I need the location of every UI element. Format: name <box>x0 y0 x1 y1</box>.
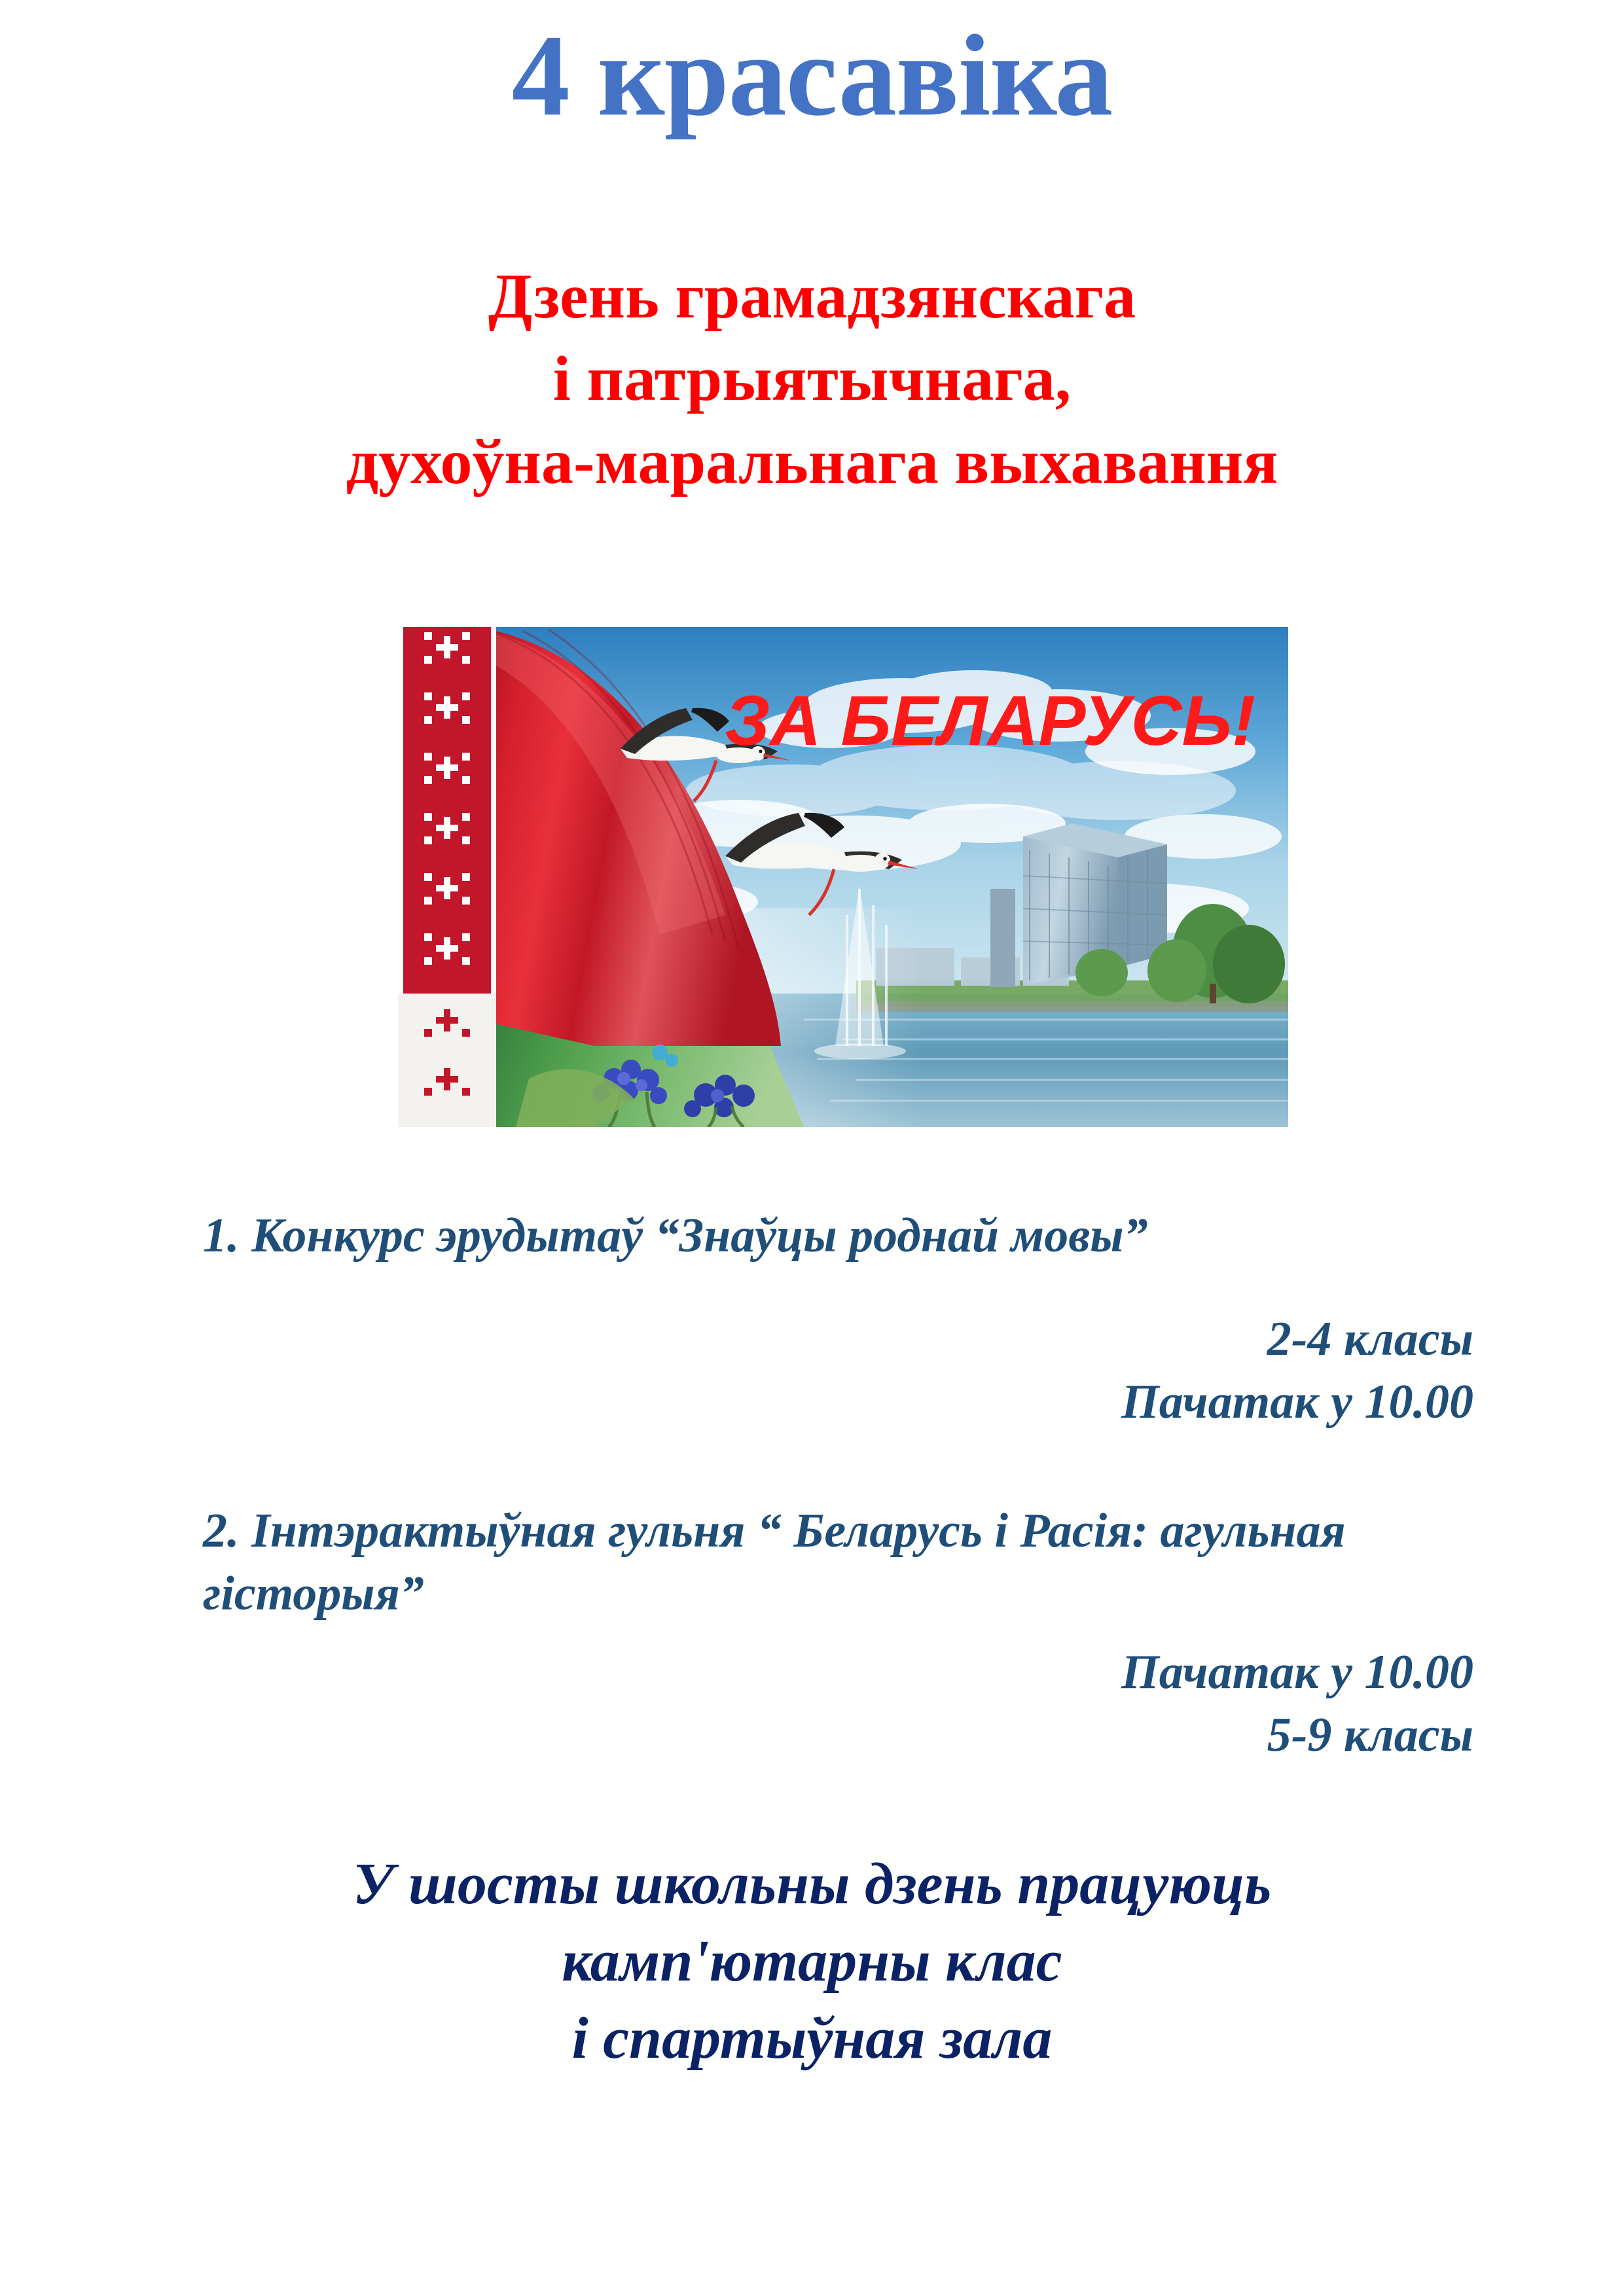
poster-image: ЗА БЕЛАРУСЬ! <box>398 627 1288 1127</box>
footer-line-3: і спартыўная зала <box>0 2000 1624 2077</box>
program-item-1-details: 2-4 класы Пачатак у 10.00 <box>0 1308 1624 1433</box>
spacer <box>0 1434 1624 1499</box>
program-item-1-start: Пачатак у 10.00 <box>0 1371 1473 1433</box>
footer-line-1: У шосты школьны дзень працуюць <box>0 1846 1624 1923</box>
program-item-2-title-line2: гісторыя” <box>203 1562 1473 1625</box>
program-item-2-title: 2. Інтэрактыўная гульня “ Беларусь і Рас… <box>0 1499 1624 1625</box>
program-item-2-grades: 5-9 класы <box>0 1704 1473 1767</box>
program-item-2-details: Пачатак у 10.00 5-9 класы <box>0 1641 1624 1767</box>
poster-page: 4 красавіка Дзень грамадзянскага і патры… <box>0 0 1624 2296</box>
footer-line-2: камп'ютарны клас <box>0 1923 1624 2000</box>
za-belarus-banner: ЗА БЕЛАРУСЬ! <box>398 627 1288 1127</box>
subtitle-line-3: духоўна-маральнага выхавання <box>0 421 1624 503</box>
spacer <box>0 1625 1624 1641</box>
banner-artwork: ЗА БЕЛАРУСЬ! <box>398 627 1288 1127</box>
program-item-2-title-line1: 2. Інтэрактыўная гульня “ Беларусь і Рас… <box>203 1499 1473 1562</box>
page-title: 4 красавіка <box>0 7 1624 144</box>
slogan-text: ЗА БЕЛАРУСЬ! <box>725 681 1255 760</box>
program-item-1-grades: 2-4 класы <box>0 1308 1473 1371</box>
program-item-2-start: Пачатак у 10.00 <box>0 1641 1473 1704</box>
subtitle-line-2: і патрыятычнага, <box>0 338 1624 420</box>
program-list: 1. Конкурс эрудытаў “Знаўцы роднай мовы”… <box>0 1204 1624 1767</box>
subtitle-heading: Дзень грамадзянскага і патрыятычнага, ду… <box>0 255 1624 503</box>
program-item-1-title: 1. Конкурс эрудытаў “Знаўцы роднай мовы” <box>0 1204 1624 1267</box>
subtitle-line-1: Дзень грамадзянскага <box>0 255 1624 338</box>
footer-note: У шосты школьны дзень працуюць камп'ютар… <box>0 1846 1624 2077</box>
spacer <box>0 1267 1624 1308</box>
